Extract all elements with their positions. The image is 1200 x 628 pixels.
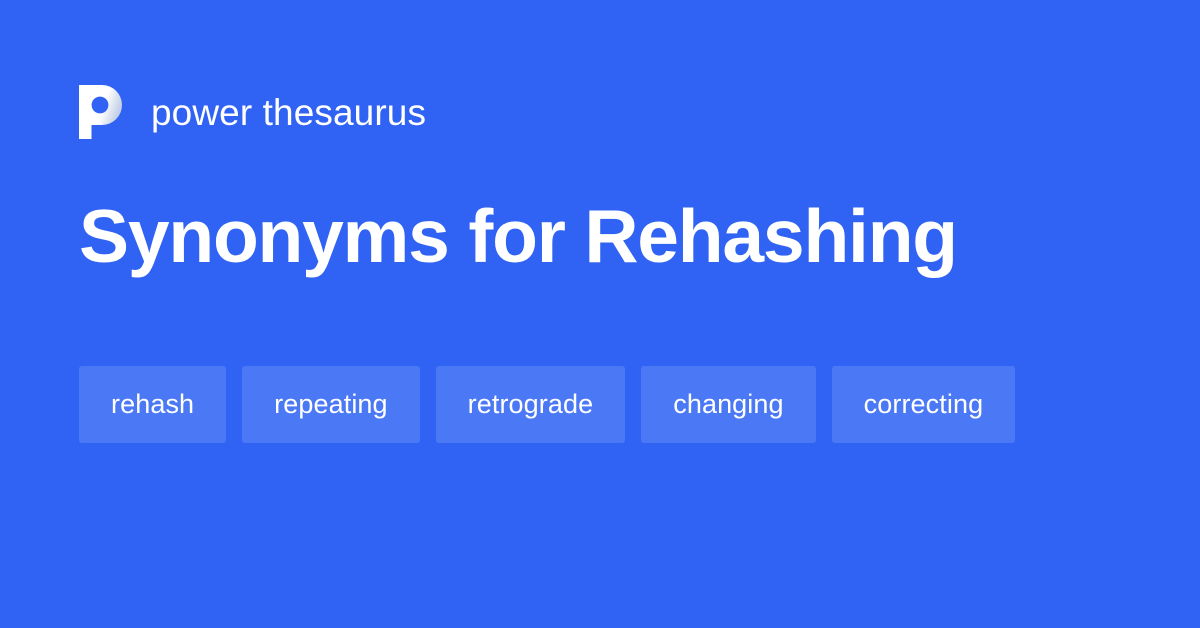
synonym-chip[interactable]: rehash xyxy=(79,366,226,443)
power-thesaurus-b-logo-icon xyxy=(79,85,129,139)
share-card: power thesaurus Synonyms for Rehashing r… xyxy=(0,0,1200,628)
brand-name: power thesaurus xyxy=(151,94,426,131)
synonym-chip-list: rehash repeating retrograde changing cor… xyxy=(79,366,1119,443)
page-title: Synonyms for Rehashing xyxy=(79,196,1139,277)
synonym-chip[interactable]: retrograde xyxy=(436,366,626,443)
brand-logo[interactable]: power thesaurus xyxy=(79,82,426,142)
synonym-chip[interactable]: repeating xyxy=(242,366,420,443)
synonym-chip[interactable]: changing xyxy=(641,366,815,443)
synonym-chip[interactable]: correcting xyxy=(832,366,1016,443)
